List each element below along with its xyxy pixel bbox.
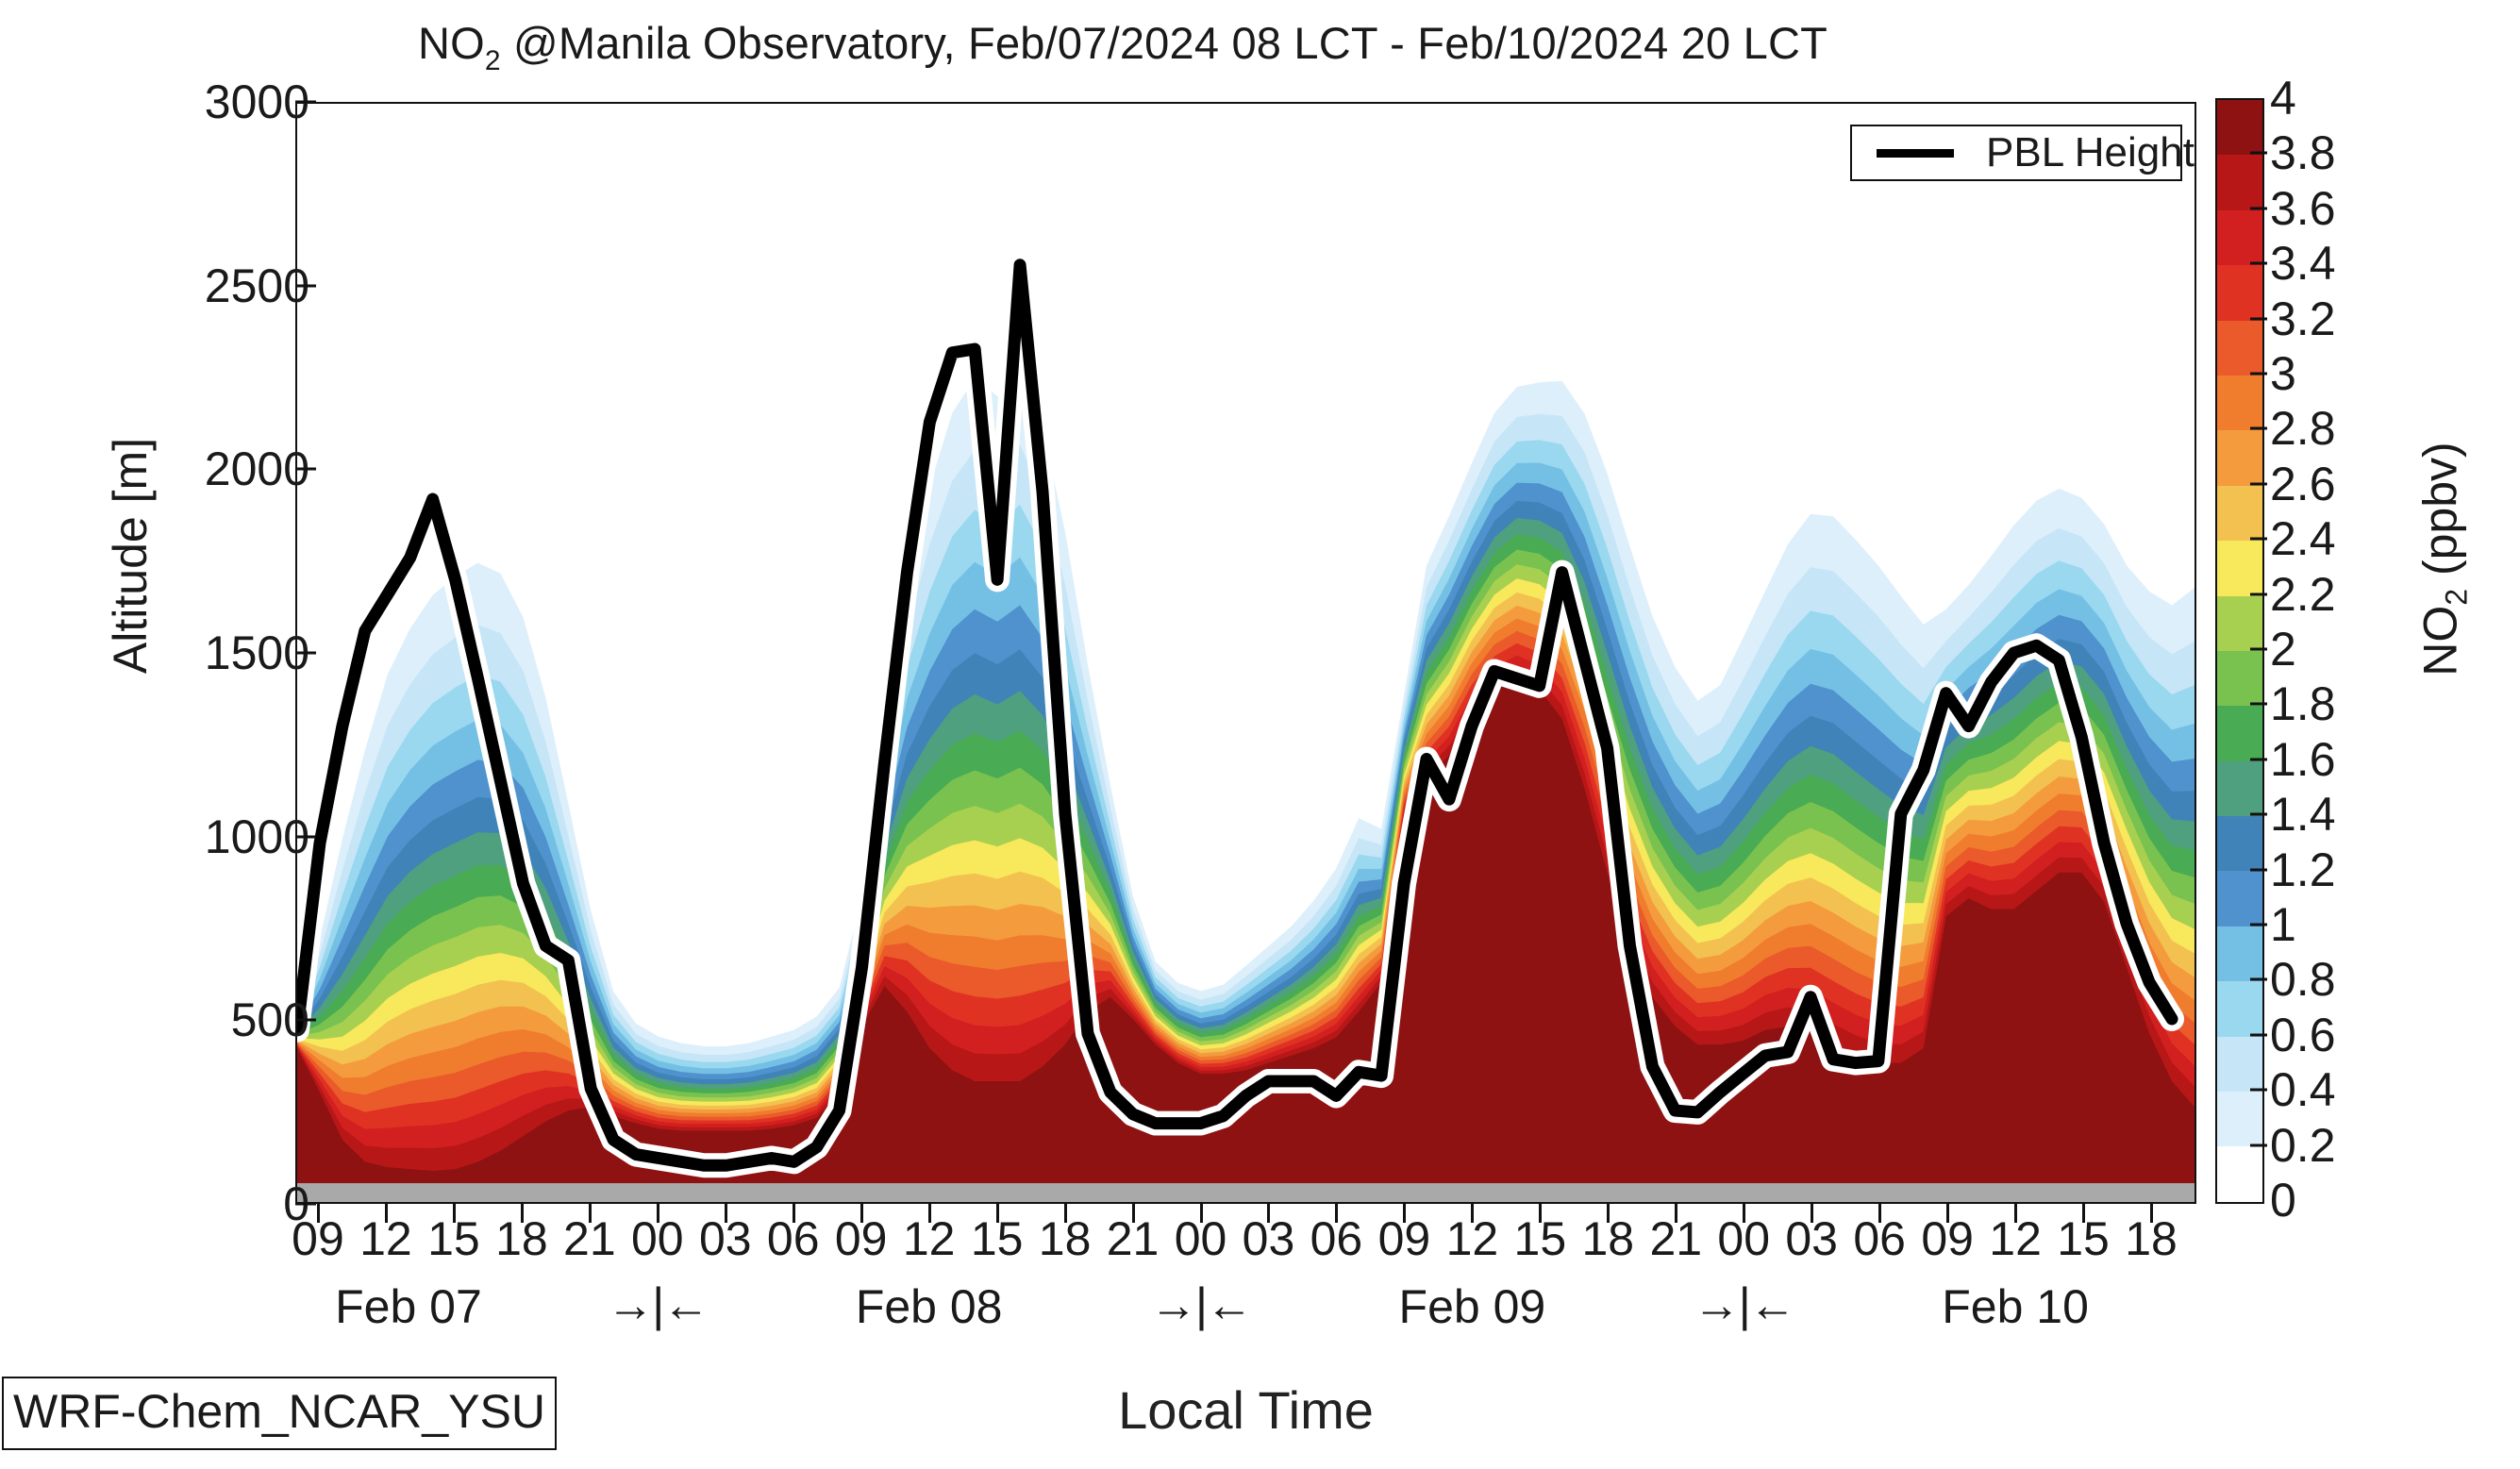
day-separator-0: →|← [607,1277,708,1332]
colorbar-tick-label-2.2: 2.2 [2270,567,2336,622]
colorbar-units: (ppbv) [2414,442,2467,589]
colorbar-tick-label-0.8: 0.8 [2270,952,2336,1007]
colorbar-tick-label-3: 3 [2270,346,2296,401]
x-tick-label-19: 18 [1581,1211,1634,1266]
y-tick-mark-0 [295,1203,316,1206]
x-tick-label-27: 18 [2125,1211,2178,1266]
colorbar-tick-label-1.2: 1.2 [2270,843,2336,897]
colorbar-tick-label-3.6: 3.6 [2270,181,2336,236]
colorbar-tick-mark-1.8 [2250,703,2267,706]
y-tick-label-2000: 2000 [205,445,309,492]
colorbar-tick-mark-3 [2250,373,2267,376]
legend[interactable]: PBL Height [1850,125,2182,181]
colorbar-cell-7 [2217,761,2262,816]
colorbar-tick-label-1.6: 1.6 [2270,732,2336,787]
colorbar-tick-label-2: 2 [2270,622,2296,676]
x-tick-label-4: 21 [563,1211,616,1266]
colorbar-title: NO2 (ppbv) [2413,371,2475,748]
x-tick-label-7: 06 [767,1211,820,1266]
x-tick-label-18: 15 [1514,1211,1567,1266]
day-separator-1: →|← [1150,1277,1251,1332]
colorbar-tick-label-0.2: 0.2 [2270,1118,2336,1173]
y-axis-title: Altitude [m] [103,367,158,744]
colorbar-cell-1 [2217,1092,2262,1146]
colorbar-tick-label-0.6: 0.6 [2270,1008,2336,1062]
x-tick-label-14: 03 [1243,1211,1295,1266]
model-tag: WRF-Chem_NCAR_YSU [2,1377,557,1450]
x-tick-label-21: 00 [1717,1211,1770,1266]
y-tick-mark-3000 [295,101,316,104]
day-separator-2: →|← [1694,1277,1794,1332]
colorbar-tick-mark-2.8 [2250,427,2267,430]
title-species: NO [418,18,485,68]
colorbar-cell-6 [2217,816,2262,871]
x-tick-label-16: 09 [1378,1211,1431,1266]
colorbar-cell-9 [2217,651,2262,706]
y-tick-mark-2500 [295,284,316,287]
colorbar-cell-16 [2217,265,2262,320]
page-title: NO2 @Manila Observatory, Feb/07/2024 08 … [0,17,2245,77]
title-rest: @Manila Observatory, Feb/07/2024 08 LCT … [501,18,1827,68]
colorbar-tick-label-2.6: 2.6 [2270,457,2336,511]
day-label-feb-07: Feb 07 [335,1279,482,1334]
colorbar-cell-18 [2217,155,2262,209]
colorbar-tick-mark-2.2 [2250,593,2267,595]
colorbar-tick-mark-2 [2250,648,2267,651]
y-tick-label-3000: 3000 [205,78,309,125]
day-label-feb-08: Feb 08 [856,1279,1003,1334]
y-tick-mark-2000 [295,468,316,471]
x-tick-label-1: 12 [359,1211,412,1266]
x-tick-label-22: 03 [1785,1211,1838,1266]
colorbar-cell-3 [2217,981,2262,1036]
x-tick-label-10: 15 [971,1211,1024,1266]
y-tick-mark-1500 [295,652,316,655]
y-tick-mark-1000 [295,835,316,838]
colorbar-tick-label-1.8: 1.8 [2270,676,2336,731]
y-tick-mark-500 [295,1019,316,1022]
colorbar-tick-mark-1.6 [2250,758,2267,760]
legend-item-label: PBL Height [1986,129,2195,176]
x-tick-label-15: 06 [1310,1211,1363,1266]
ground-band [297,1183,2195,1202]
colorbar-tick-label-2.8: 2.8 [2270,401,2336,456]
y-tick-label-1000: 1000 [205,813,309,860]
x-tick-label-11: 18 [1039,1211,1092,1266]
colorbar-tick-mark-3.6 [2250,207,2267,209]
colorbar-cell-4 [2217,926,2262,981]
x-tick-label-0: 09 [292,1211,344,1266]
colorbar-cell-15 [2217,321,2262,376]
x-tick-label-5: 00 [631,1211,684,1266]
x-tick-label-13: 00 [1175,1211,1227,1266]
x-tick-label-24: 09 [1921,1211,1974,1266]
y-tick-label-1500: 1500 [205,629,309,676]
colorbar-cell-0 [2217,1146,2262,1201]
x-axis-title: Local Time [295,1379,2196,1441]
colorbar-tick-mark-3.4 [2250,262,2267,265]
colorbar-tick-mark-1 [2250,924,2267,926]
colorbar-cell-11 [2217,541,2262,595]
colorbar-tick-label-0: 0 [2270,1173,2296,1227]
x-tick-label-8: 09 [835,1211,888,1266]
colorbar-tick-mark-3.2 [2250,317,2267,320]
x-tick-label-25: 12 [1989,1211,2042,1266]
colorbar-tick-mark-1.2 [2250,868,2267,871]
x-tick-label-3: 18 [495,1211,548,1266]
colorbar-tick-label-3.4: 3.4 [2270,236,2336,291]
colorbar-tick-label-0.4: 0.4 [2270,1062,2336,1117]
colorbar-cell-17 [2217,210,2262,265]
colorbar-tick-mark-0.8 [2250,978,2267,981]
colorbar-tick-label-2.4: 2.4 [2270,511,2336,566]
x-tick-label-6: 03 [699,1211,752,1266]
colorbar-tick-mark-0.4 [2250,1089,2267,1092]
x-tick-label-2: 15 [427,1211,480,1266]
colorbar-tick-mark-0.6 [2250,1033,2267,1036]
day-label-feb-10: Feb 10 [1942,1279,2089,1334]
colorbar-tick-label-3.2: 3.2 [2270,292,2336,346]
plot-area [295,102,2196,1204]
x-tick-label-17: 12 [1446,1211,1499,1266]
colorbar-tick-mark-2.6 [2250,482,2267,485]
legend-line-swatch [1877,149,1954,158]
colorbar-tick-label-4: 4 [2270,71,2296,125]
contour-plot [297,104,2195,1202]
colorbar-subscript: 2 [2440,589,2474,606]
colorbar-tick-mark-0.2 [2250,1143,2267,1146]
y-tick-label-2500: 2500 [205,262,309,309]
x-tick-label-20: 21 [1649,1211,1702,1266]
colorbar-tick-mark-2.4 [2250,538,2267,541]
title-subscript: 2 [485,45,501,76]
colorbar-cell-5 [2217,871,2262,926]
colorbar-cell-2 [2217,1037,2262,1092]
colorbar-tick-label-1.4: 1.4 [2270,787,2336,842]
colorbar-tick-label-1: 1 [2270,897,2296,952]
x-tick-label-23: 06 [1853,1211,1906,1266]
x-tick-label-12: 21 [1107,1211,1160,1266]
colorbar-cell-12 [2217,486,2262,541]
colorbar-cell-19 [2217,100,2262,155]
colorbar-tick-mark-3.8 [2250,152,2267,155]
colorbar-cell-14 [2217,376,2262,430]
day-label-feb-09: Feb 09 [1399,1279,1546,1334]
x-tick-label-9: 12 [903,1211,956,1266]
colorbar-tick-mark-1.4 [2250,813,2267,816]
colorbar-cell-13 [2217,430,2262,485]
colorbar-cell-10 [2217,596,2262,651]
colorbar-tick-label-3.8: 3.8 [2270,125,2336,180]
colorbar-cell-8 [2217,706,2262,760]
colorbar-species: NO [2414,606,2467,676]
x-tick-label-26: 15 [2057,1211,2110,1266]
